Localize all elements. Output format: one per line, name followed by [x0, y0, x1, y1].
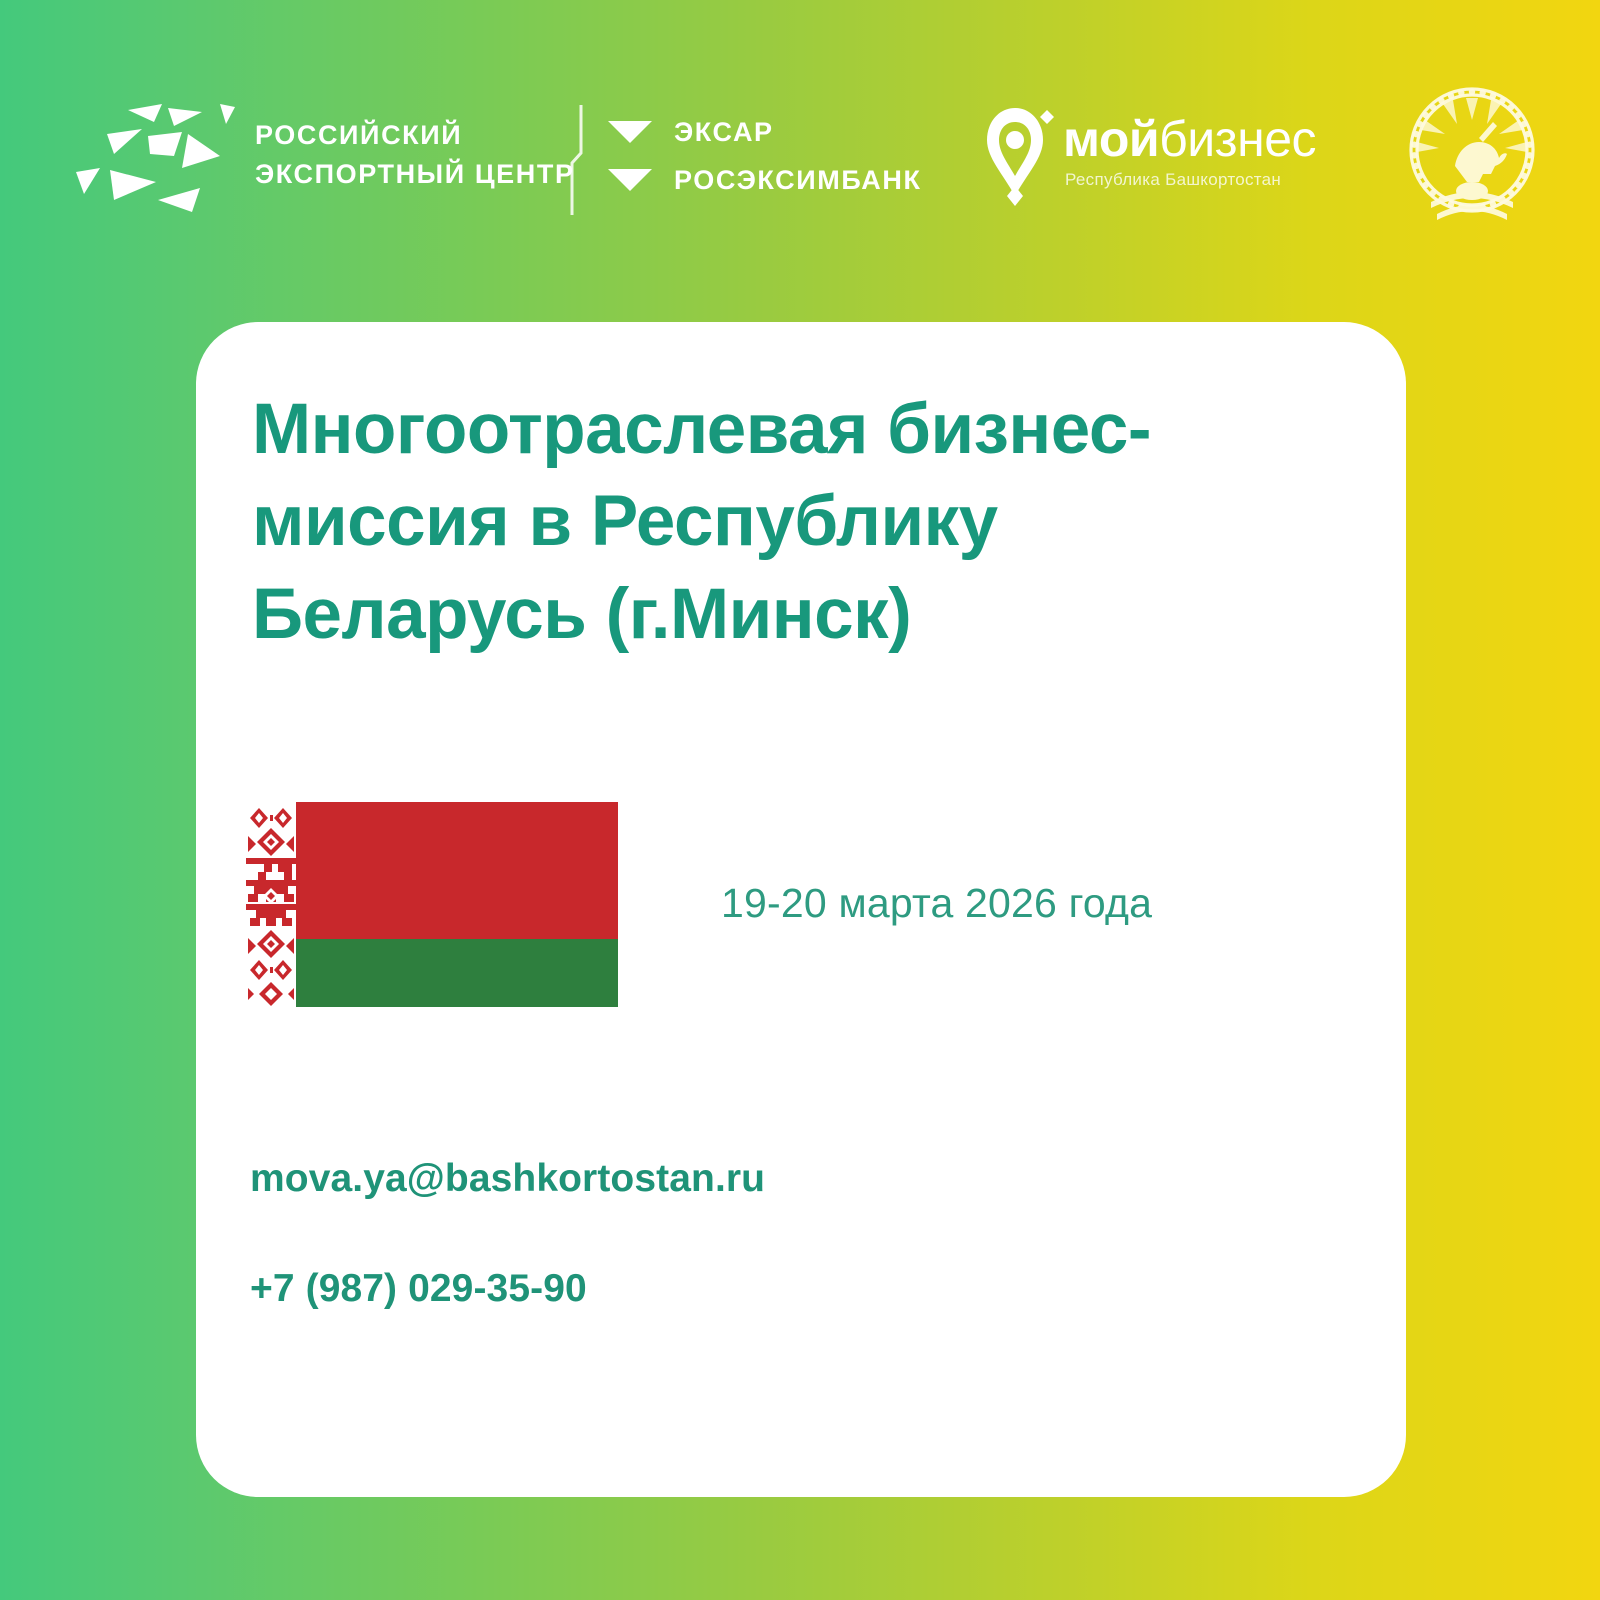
- contact-email[interactable]: mova.ya@bashkortostan.ru: [250, 1157, 1330, 1201]
- logo-exiar-roseximbank[interactable]: ЭКСАР РОСЭКСИМБАНК: [608, 108, 908, 204]
- belarus-flag: [246, 802, 618, 1007]
- moy-biznes-bold: мой: [1063, 111, 1159, 167]
- poster-root: РОССИЙСКИЙ ЭКСПОРТНЫЙ ЦЕНТР ЭКСАР РОСЭКС…: [0, 0, 1600, 1600]
- moy-biznes-subtitle: Республика Башкортостан: [1065, 170, 1281, 190]
- bashkortostan-coat-of-arms[interactable]: [1395, 78, 1550, 233]
- triangle-down-icon: [608, 169, 652, 191]
- exiar-label: ЭКСАР: [674, 117, 774, 148]
- contact-phone[interactable]: +7 (987) 029-35-90: [250, 1267, 1330, 1311]
- rec-triangles-mark: [70, 96, 235, 216]
- exiar-line-2: РОСЭКСИМБАНК: [608, 156, 908, 204]
- moy-biznes-light: бизнес: [1159, 111, 1316, 167]
- logo-russian-export-center[interactable]: РОССИЙСКИЙ ЭКСПОРТНЫЙ ЦЕНТР: [70, 96, 550, 216]
- moy-biznes-wordmark: мойбизнес: [1063, 114, 1316, 164]
- header-logo-row: РОССИЙСКИЙ ЭКСПОРТНЫЙ ЦЕНТР ЭКСАР РОСЭКС…: [0, 0, 1600, 300]
- page-title: Многоотраслевая бизнес-миссия в Республи…: [252, 384, 1332, 661]
- triangle-down-icon: [608, 121, 652, 143]
- flag-and-date-row: 19-20 марта 2026 года: [246, 802, 1356, 1007]
- content-card: Многоотраслевая бизнес-миссия в Республи…: [196, 322, 1406, 1497]
- rec-wordmark: РОССИЙСКИЙ ЭКСПОРТНЫЙ ЦЕНТР: [255, 116, 575, 194]
- location-pin-icon: [985, 104, 1057, 208]
- rec-line-1: РОССИЙСКИЙ: [255, 116, 575, 155]
- rec-line-2: ЭКСПОРТНЫЙ ЦЕНТР: [255, 155, 575, 194]
- contacts-block: mova.ya@bashkortostan.ru +7 (987) 029-35…: [250, 1157, 1330, 1311]
- header-divider: [567, 105, 587, 215]
- logo-moy-biznes[interactable]: мойбизнес Республика Башкортостан: [985, 100, 1315, 210]
- event-date: 19-20 марта 2026 года: [721, 880, 1152, 927]
- exiar-line-1: ЭКСАР: [608, 108, 908, 156]
- roseximbank-label: РОСЭКСИМБАНК: [674, 165, 922, 196]
